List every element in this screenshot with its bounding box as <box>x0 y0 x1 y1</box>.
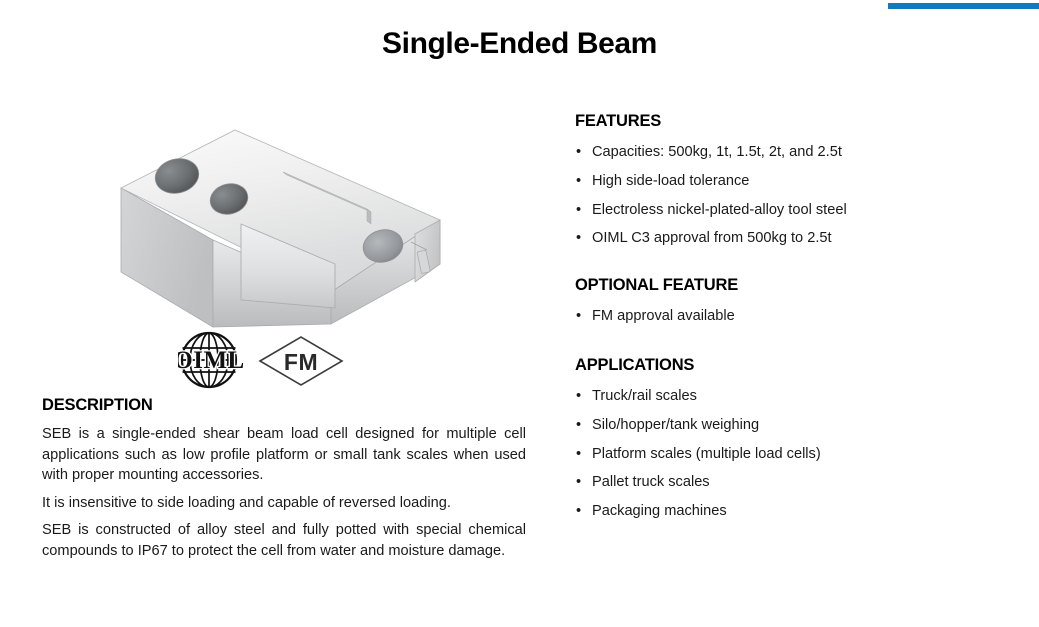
description-heading: DESCRIPTION <box>42 396 526 415</box>
optional-feature-section: OPTIONAL FEATURE FM approval available <box>575 276 1005 331</box>
list-item: Silo/hopper/tank weighing <box>575 411 1005 440</box>
list-item: Platform scales (multiple load cells) <box>575 440 1005 469</box>
applications-heading: APPLICATIONS <box>575 356 1005 375</box>
list-item: Pallet truck scales <box>575 468 1005 497</box>
product-image <box>95 112 455 337</box>
oiml-globe-logo: OIML <box>178 333 245 387</box>
svg-text:FM: FM <box>284 349 318 375</box>
page-title: Single-Ended Beam <box>0 27 1039 61</box>
svg-text:OIML: OIML <box>178 347 245 374</box>
list-item: OIML C3 approval from 500kg to 2.5t <box>575 224 1005 253</box>
description-paragraph-3: SEB is constructed of alloy steel and fu… <box>42 520 526 561</box>
optional-feature-heading: OPTIONAL FEATURE <box>575 276 1005 295</box>
fm-diamond-logo: FM <box>260 337 342 385</box>
applications-section: APPLICATIONS Truck/rail scales Silo/hopp… <box>575 356 1005 526</box>
optional-feature-list: FM approval available <box>575 302 1005 331</box>
features-heading: FEATURES <box>575 112 1005 131</box>
features-list: Capacities: 500kg, 1t, 1.5t, 2t, and 2.5… <box>575 138 1005 253</box>
list-item: Truck/rail scales <box>575 382 1005 411</box>
description-paragraph-2: It is insensitive to side loading and ca… <box>42 493 526 514</box>
features-section: FEATURES Capacities: 500kg, 1t, 1.5t, 2t… <box>575 112 1005 253</box>
section-spacer <box>575 253 1005 276</box>
section-spacer <box>575 331 1005 356</box>
specifications-column: FEATURES Capacities: 500kg, 1t, 1.5t, 2t… <box>575 112 1005 526</box>
list-item: Electroless nickel-plated-alloy tool ste… <box>575 196 1005 225</box>
description-section: DESCRIPTION SEB is a single-ended shear … <box>42 396 526 561</box>
load-cell-beam-illustration <box>95 112 455 337</box>
list-item: Packaging machines <box>575 497 1005 526</box>
header-accent-bar <box>888 3 1039 9</box>
certification-logos: OIML FM <box>178 330 358 390</box>
applications-list: Truck/rail scales Silo/hopper/tank weigh… <box>575 382 1005 526</box>
description-paragraph-1: SEB is a single-ended shear beam load ce… <box>42 424 526 486</box>
list-item: Capacities: 500kg, 1t, 1.5t, 2t, and 2.5… <box>575 138 1005 167</box>
list-item: FM approval available <box>575 302 1005 331</box>
list-item: High side-load tolerance <box>575 167 1005 196</box>
